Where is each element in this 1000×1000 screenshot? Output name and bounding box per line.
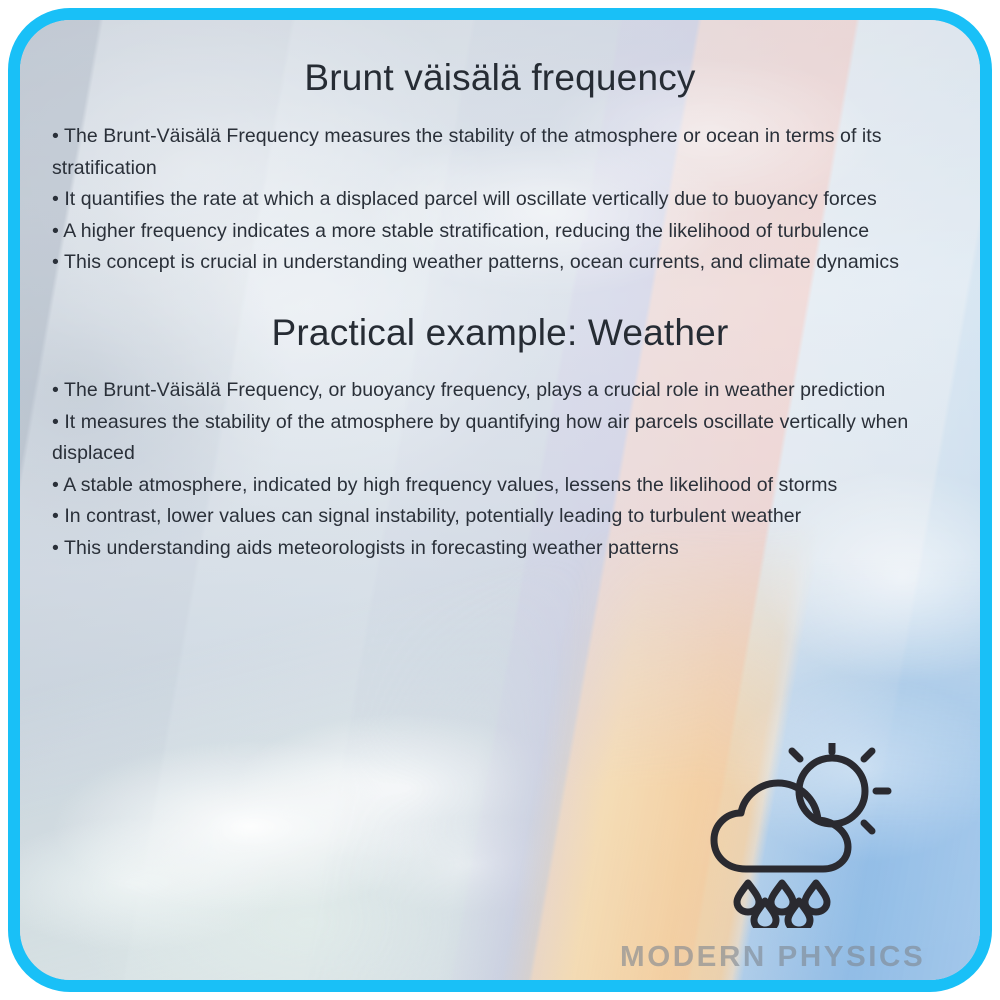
raindrop — [771, 883, 793, 912]
list-item: • In contrast, lower values can signal i… — [52, 501, 948, 533]
watermark-modern-physics: MODERN PHYSICS — [620, 941, 925, 974]
list-item: • It quantifies the rate at which a disp… — [52, 184, 948, 216]
list-item: • This concept is crucial in understandi… — [52, 247, 948, 279]
list-item: • This understanding aids meteorologists… — [52, 533, 948, 565]
example-bullet-list: • The Brunt-Väisälä Frequency, or buoyan… — [52, 375, 948, 564]
slide-card: Brunt väisälä frequency • The Brunt-Väis… — [8, 8, 992, 992]
raindrop — [805, 883, 827, 912]
list-item: • A higher frequency indicates a more st… — [52, 216, 948, 248]
list-item: • A stable atmosphere, indicated by high… — [52, 470, 948, 502]
sun-ray-se — [864, 823, 872, 831]
sun-disc — [799, 758, 865, 824]
list-item: • The Brunt-Väisälä Frequency, or buoyan… — [52, 375, 948, 407]
section-title: Practical example: Weather — [52, 279, 948, 355]
raindrop — [737, 883, 759, 912]
sun-ray-nw — [792, 751, 800, 759]
intro-bullet-list: • The Brunt-Väisälä Frequency measures t… — [52, 121, 948, 279]
list-item: • It measures the stability of the atmos… — [52, 407, 948, 470]
page-title: Brunt väisälä frequency — [52, 20, 948, 100]
sun-behind-rain-cloud-icon — [704, 743, 894, 928]
sun-ray-ne — [864, 751, 872, 759]
list-item: • The Brunt-Väisälä Frequency measures t… — [52, 121, 948, 184]
